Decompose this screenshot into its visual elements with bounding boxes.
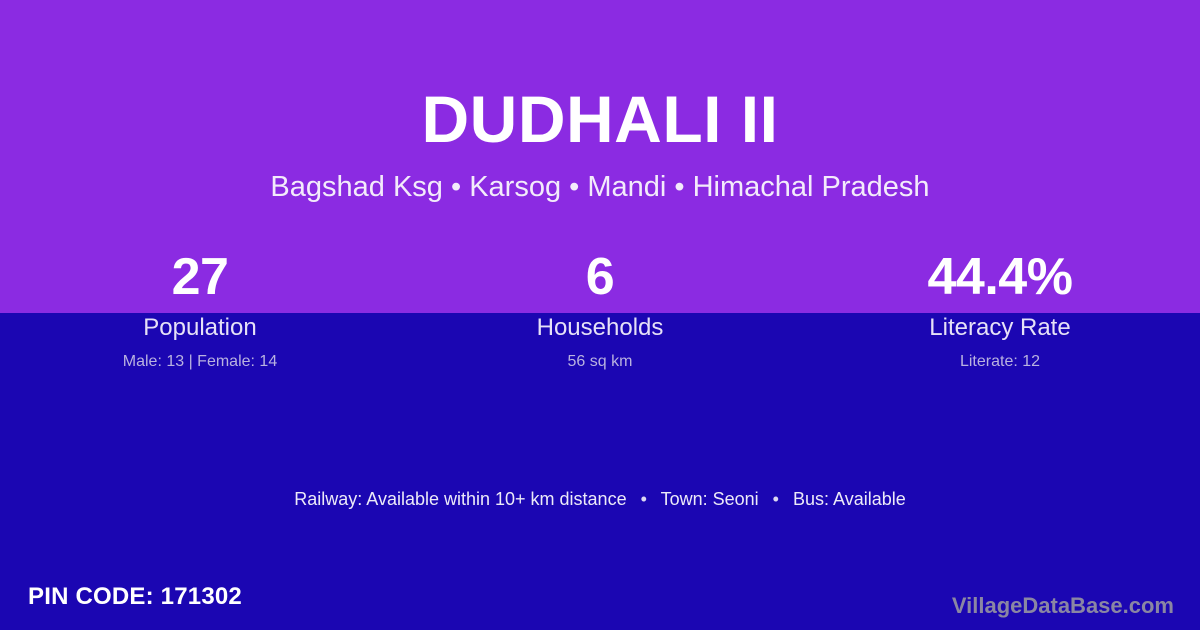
amenity-railway: Railway: Available within 10+ km distanc… [294, 489, 626, 509]
stat-literacy-value: 44.4% [800, 248, 1200, 306]
stat-population-value: 27 [0, 248, 400, 306]
stat-households-label: Households [400, 314, 800, 342]
amenity-bus: Bus: Available [793, 489, 906, 509]
amenity-separator-1: • [632, 489, 656, 509]
pin-code: PIN CODE: 171302 [28, 582, 242, 612]
stat-households-value: 6 [400, 248, 800, 306]
stat-households-detail: 56 sq km [400, 352, 800, 372]
stat-literacy: 44.4% Literacy Rate Literate: 12 [800, 248, 1200, 372]
stat-literacy-label: Literacy Rate [800, 314, 1200, 342]
stat-households: 6 Households 56 sq km [400, 248, 800, 372]
stat-population-detail: Male: 13 | Female: 14 [0, 352, 400, 372]
stat-population-label: Population [0, 314, 400, 342]
stats-row: 27 Population Male: 13 | Female: 14 6 Ho… [0, 248, 1200, 372]
breadcrumb: Bagshad Ksg • Karsog • Mandi • Himachal … [0, 152, 1200, 204]
stat-population: 27 Population Male: 13 | Female: 14 [0, 248, 400, 372]
village-info-card: DUDHALI II Bagshad Ksg • Karsog • Mandi … [0, 0, 1200, 630]
amenity-separator-2: • [764, 489, 788, 509]
amenities-line: Railway: Available within 10+ km distanc… [0, 486, 1200, 512]
brand-watermark: VillageDataBase.com [952, 592, 1174, 620]
stat-literacy-detail: Literate: 12 [800, 352, 1200, 372]
page-title: DUDHALI II [0, 0, 1200, 152]
header-block: DUDHALI II Bagshad Ksg • Karsog • Mandi … [0, 0, 1200, 204]
footer: PIN CODE: 171302 VillageDataBase.com [0, 558, 1200, 630]
amenity-town: Town: Seoni [661, 489, 759, 509]
